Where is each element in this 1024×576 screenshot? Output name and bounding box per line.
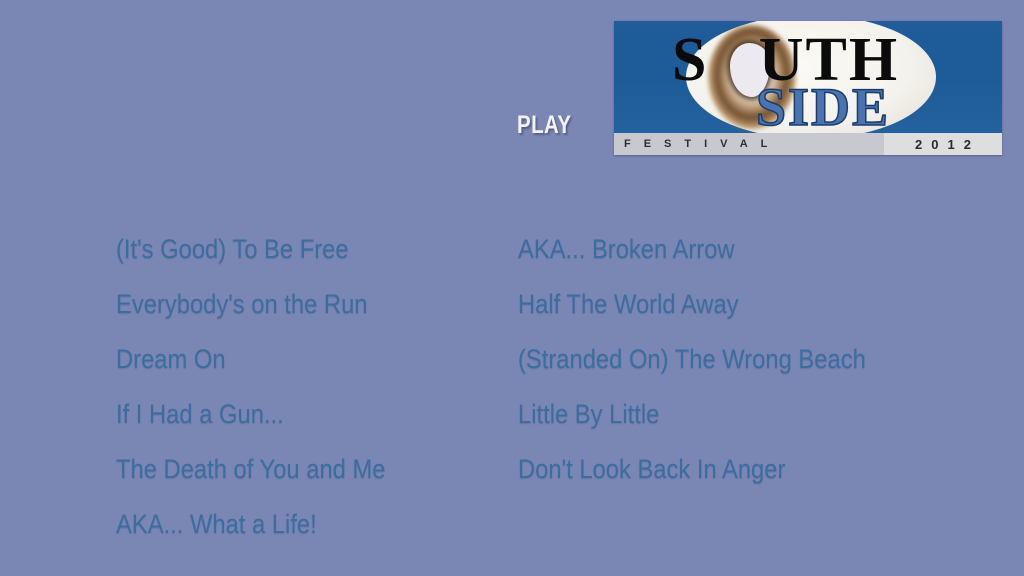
setlist-item: If I Had a Gun... <box>116 387 385 442</box>
logo-word-year: 2012 <box>884 133 1002 155</box>
setlist-item: The Death of You and Me <box>116 442 385 497</box>
video-player-screen: PLAY SOUTH SIDE FESTIVAL 2012 (It's Good… <box>0 0 1024 576</box>
logo-banner-background: SOUTH SIDE <box>614 21 1002 133</box>
logo-bottom-strip: FESTIVAL 2012 <box>614 133 1002 155</box>
logo-word-festival: FESTIVAL <box>614 138 780 150</box>
south-side-festival-logo: SOUTH SIDE FESTIVAL 2012 <box>614 21 1002 155</box>
setlist-item: (Stranded On) The Wrong Beach <box>518 332 866 387</box>
setlist-item: Half The World Away <box>518 277 866 332</box>
logo-word-south-part-1: S <box>672 26 708 94</box>
setlist-item: Dream On <box>116 332 385 387</box>
setlist-item: AKA... Broken Arrow <box>518 222 866 277</box>
setlist-column-left: (It's Good) To Be Free Everybody's on th… <box>116 222 422 552</box>
setlist-item: Little By Little <box>518 387 866 442</box>
logo-word-side: SIDE <box>756 79 890 135</box>
setlist-item: Everybody's on the Run <box>116 277 385 332</box>
setlist-item: (It's Good) To Be Free <box>116 222 385 277</box>
setlist-item: AKA... What a Life! <box>116 497 385 552</box>
play-status-label: PLAY <box>517 111 571 139</box>
setlist-column-right: AKA... Broken Arrow Half The World Away … <box>518 222 913 497</box>
logo-word-south-burnt-letter: O <box>708 26 758 94</box>
setlist-item: Don't Look Back In Anger <box>518 442 866 497</box>
